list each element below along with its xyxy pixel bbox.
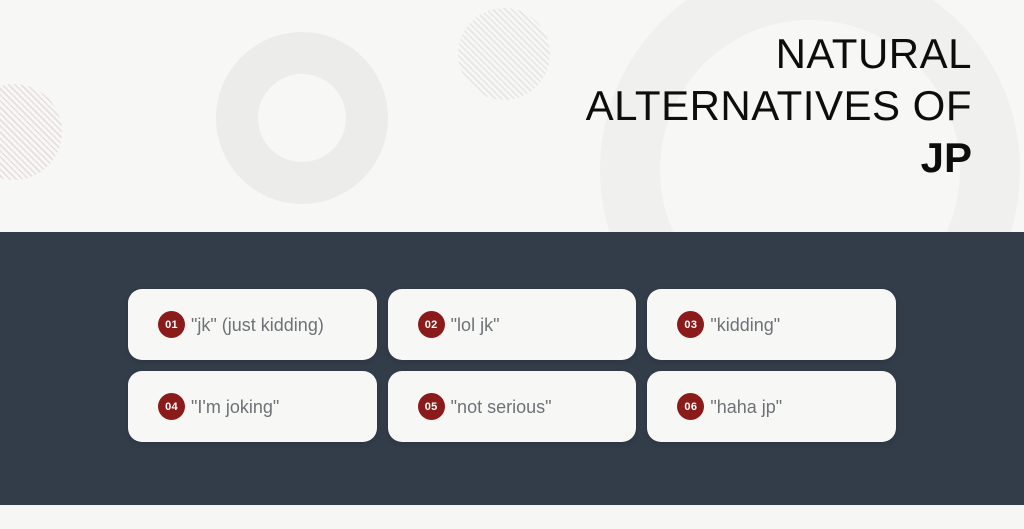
infographic-page: NATURAL ALTERNATIVES OF JP 01 "jk" (just… — [0, 0, 1024, 529]
alternative-card[interactable]: 01 "jk" (just kidding) — [128, 289, 377, 360]
card-label: "not serious" — [451, 396, 552, 418]
cards-grid: 01 "jk" (just kidding) 02 "lol jk" 03 "k… — [128, 289, 896, 442]
header-section: NATURAL ALTERNATIVES OF JP — [0, 0, 1024, 232]
alternative-card[interactable]: 04 "I'm joking" — [128, 371, 377, 442]
alternative-card[interactable]: 06 "haha jp" — [647, 371, 896, 442]
card-row: 04 "I'm joking" 05 "not serious" 06 "hah… — [128, 371, 896, 442]
card-number-badge: 06 — [677, 393, 704, 420]
gray-ring-hole-decoration — [258, 74, 346, 162]
cards-section: 01 "jk" (just kidding) 02 "lol jk" 03 "k… — [0, 232, 1024, 505]
card-label: "lol jk" — [451, 314, 500, 336]
card-label: "jk" (just kidding) — [191, 314, 324, 336]
card-number-badge: 04 — [158, 393, 185, 420]
title-line-1: NATURAL — [586, 28, 972, 80]
card-number-badge: 05 — [418, 393, 445, 420]
card-row: 01 "jk" (just kidding) 02 "lol jk" 03 "k… — [128, 289, 896, 360]
alternative-card[interactable]: 05 "not serious" — [388, 371, 637, 442]
card-label: "I'm joking" — [191, 396, 279, 418]
card-number-badge: 02 — [418, 311, 445, 338]
footer-strip — [0, 505, 1024, 529]
card-label: "kidding" — [710, 314, 780, 336]
page-title: NATURAL ALTERNATIVES OF JP — [586, 28, 972, 184]
title-line-2: ALTERNATIVES OF — [586, 80, 972, 132]
card-number-badge: 01 — [158, 311, 185, 338]
card-number-badge: 03 — [677, 311, 704, 338]
card-label: "haha jp" — [710, 396, 782, 418]
title-line-3: JP — [586, 132, 972, 184]
striped-circle-left-decoration — [0, 84, 62, 180]
alternative-card[interactable]: 02 "lol jk" — [388, 289, 637, 360]
striped-circle-mid-decoration — [458, 8, 550, 100]
alternative-card[interactable]: 03 "kidding" — [647, 289, 896, 360]
